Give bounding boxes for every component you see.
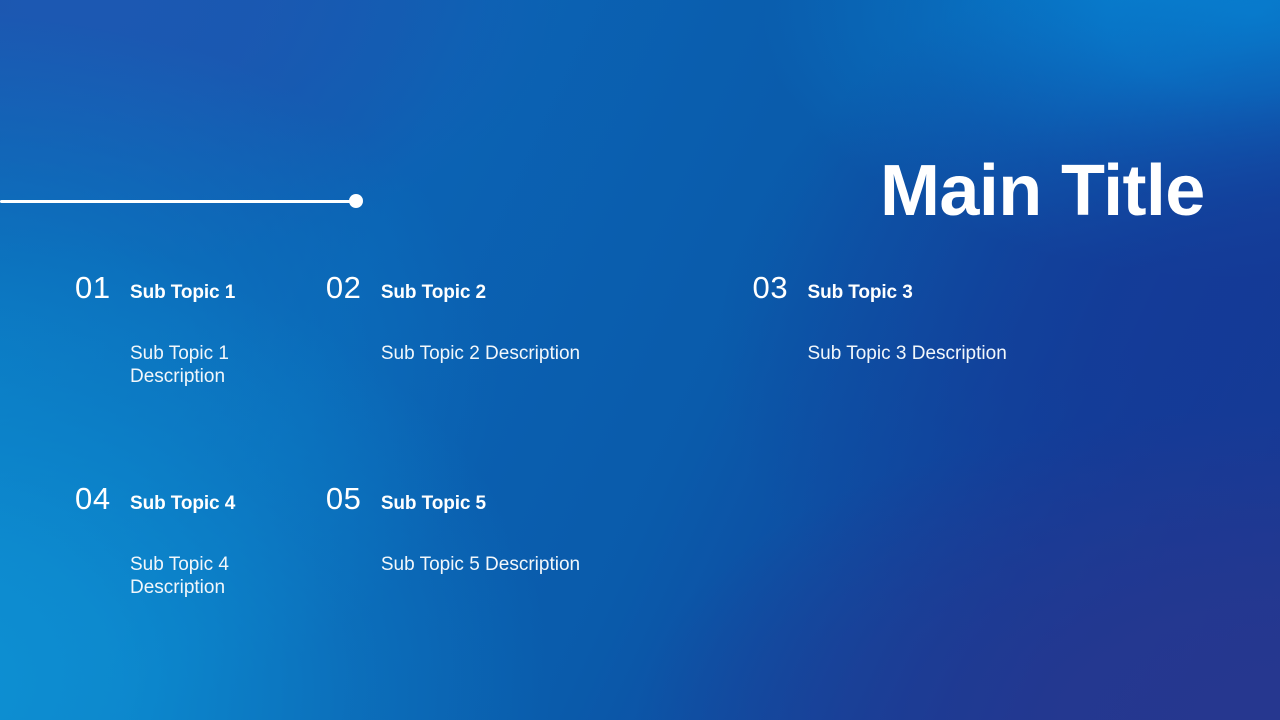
divider-line: [0, 200, 356, 203]
topic-item-03[interactable]: 03 Sub Topic 3 Sub Topic 3 Description: [0, 272, 1280, 483]
topic-row: 04 Sub Topic 4 Sub Topic 4 Description 0…: [0, 483, 1280, 694]
topic-number: 05: [326, 483, 381, 514]
topic-header: 05 Sub Topic 5: [326, 483, 678, 529]
divider-dot-icon: [349, 194, 363, 208]
topic-description: Sub Topic 3 Description: [808, 343, 1280, 366]
topic-name: Sub Topic 3: [808, 283, 913, 302]
divider-rule: [0, 194, 364, 210]
topic-number: 03: [753, 272, 808, 303]
topic-item-05[interactable]: 05 Sub Topic 5 Sub Topic 5 Description: [0, 483, 678, 694]
presentation-slide: Main Title 01 Sub Topic 1 Sub Topic 1 De…: [0, 0, 1280, 720]
topic-description: Sub Topic 5 Description: [381, 554, 678, 577]
topic-header: 03 Sub Topic 3: [753, 272, 1280, 318]
page-title: Main Title: [880, 155, 1205, 228]
topic-name: Sub Topic 5: [381, 494, 486, 513]
topic-row: 01 Sub Topic 1 Sub Topic 1 Description 0…: [0, 272, 1280, 483]
topic-grid: 01 Sub Topic 1 Sub Topic 1 Description 0…: [0, 272, 1280, 694]
